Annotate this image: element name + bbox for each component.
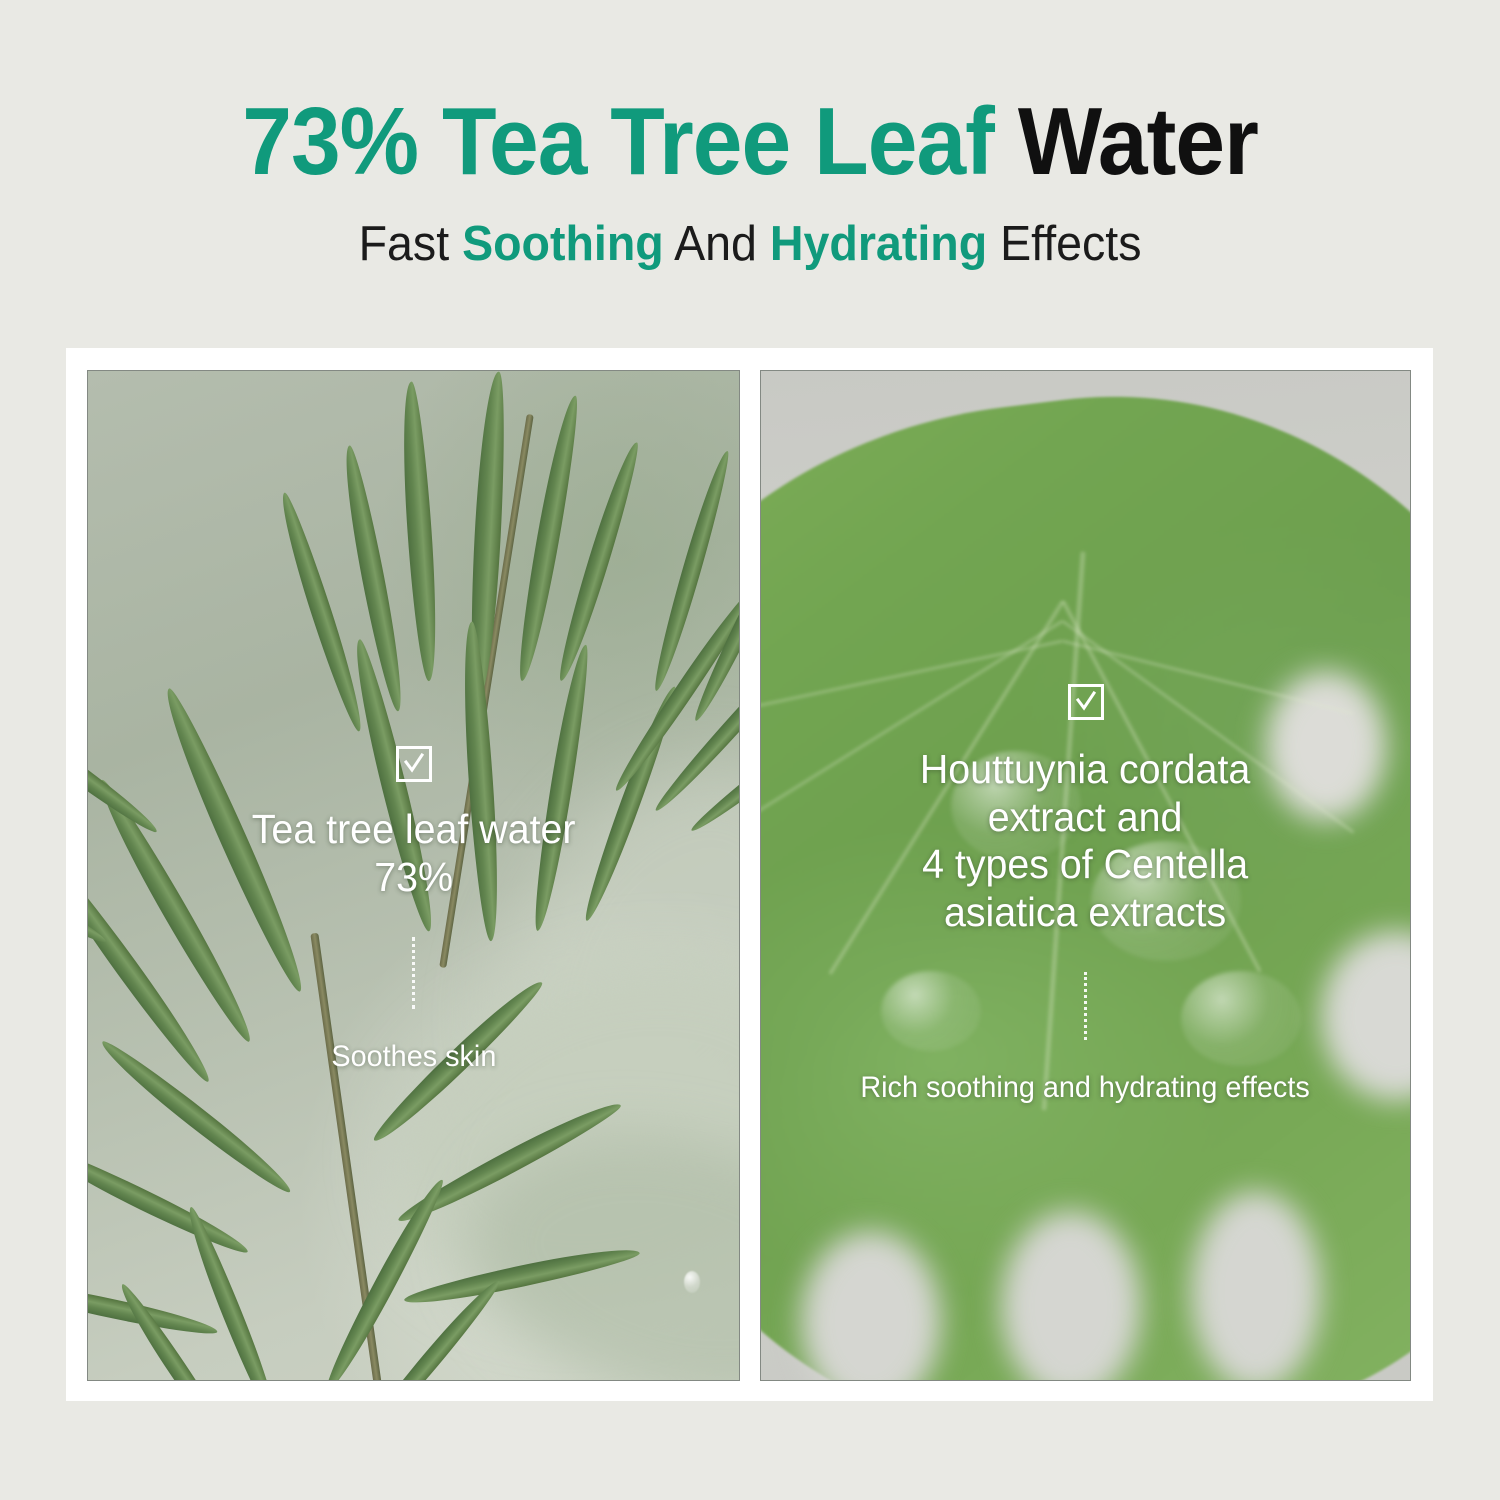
centella-caption: Rich soothing and hydrating effects (861, 1070, 1310, 1106)
tea-tree-overlay: Tea tree leaf water 73% Soothes skin (88, 371, 739, 1380)
tea-tree-caption: Soothes skin (331, 1039, 496, 1075)
headline-dark: Water (1018, 88, 1258, 195)
subtitle-part-1: Fast (359, 217, 462, 271)
centella-title: Houttuynia cordata extract and 4 types o… (920, 746, 1250, 936)
dotted-divider (1084, 972, 1087, 1040)
checkbox-checked-icon (396, 746, 432, 782)
header: 73% Tea Tree Leaf Water Fast Soothing An… (0, 0, 1500, 348)
panel-centella: Houttuynia cordata extract and 4 types o… (760, 370, 1411, 1381)
image-frame: Tea tree leaf water 73% Soothes skin (66, 348, 1433, 1401)
headline-accent: 73% Tea Tree Leaf (242, 88, 1018, 195)
subtitle-part-3: Effects (987, 217, 1141, 271)
subtitle-accent-soothing: Soothing (462, 217, 664, 271)
dotted-divider (412, 937, 415, 1009)
checkbox-checked-icon (1068, 684, 1104, 720)
subtitle-part-2: And (664, 217, 770, 271)
page-subtitle: Fast Soothing And Hydrating Effects (359, 220, 1142, 269)
centella-overlay: Houttuynia cordata extract and 4 types o… (761, 371, 1410, 1380)
tea-tree-title: Tea tree leaf water 73% (252, 806, 576, 901)
subtitle-accent-hydrating: Hydrating (770, 217, 987, 271)
panel-tea-tree: Tea tree leaf water 73% Soothes skin (87, 370, 740, 1381)
page-title: 73% Tea Tree Leaf Water (242, 94, 1258, 190)
